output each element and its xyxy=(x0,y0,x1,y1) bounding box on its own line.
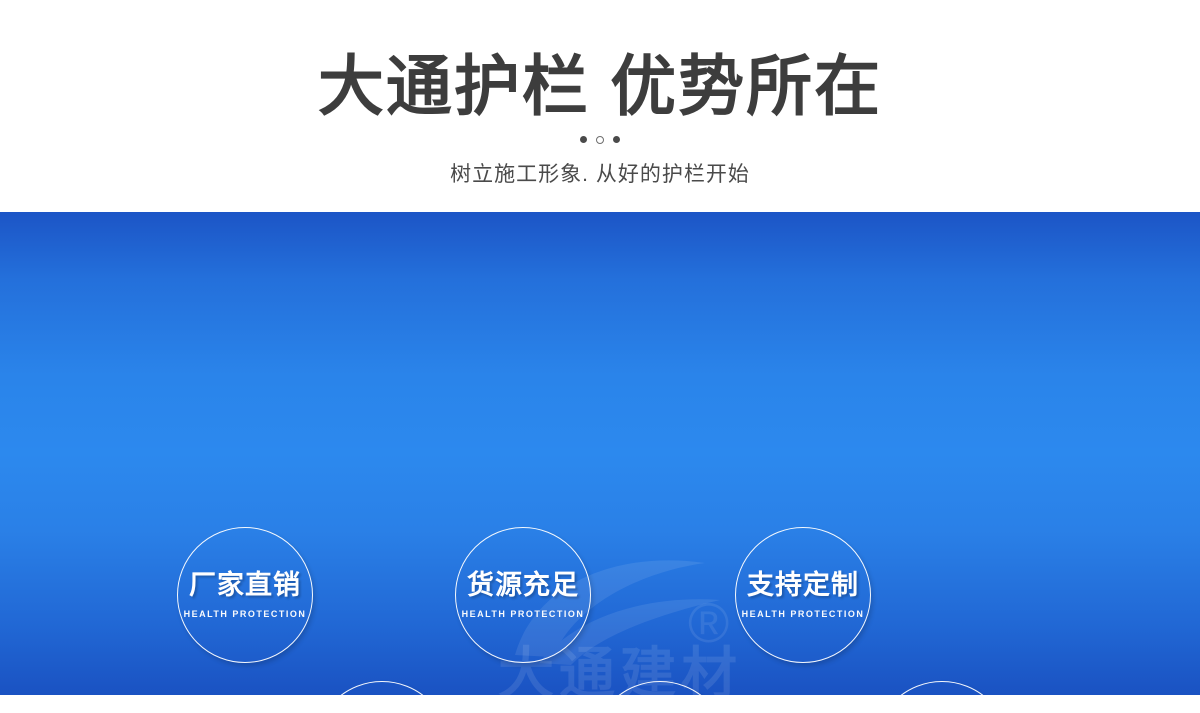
brand-watermark: ® 大通建材 DA TONG CONSTRUCTION MATERIAL xyxy=(0,212,1200,695)
advantage-badge-2-subtitle: HEALTH PROTECTION xyxy=(462,609,585,619)
dot-filled-right xyxy=(613,136,620,143)
advantage-badge-3[interactable]: 支持定制 HEALTH PROTECTION xyxy=(735,527,871,663)
page-title: 大通护栏 优势所在 xyxy=(318,52,882,121)
dot-hollow-center xyxy=(596,136,604,144)
page-subtitle: 树立施工形象. 从好的护栏开始 xyxy=(450,158,750,188)
dot-filled-left xyxy=(580,136,587,143)
footer-spacer xyxy=(0,695,1200,713)
advantages-panel: ® 大通建材 DA TONG CONSTRUCTION MATERIAL 厂家直… xyxy=(0,212,1200,695)
advantage-badge-3-title: 支持定制 xyxy=(747,572,859,599)
advantage-badge-2-title: 货源充足 xyxy=(467,572,579,599)
advantage-badge-1[interactable]: 厂家直销 HEALTH PROTECTION xyxy=(177,527,313,663)
header-section: 大通护栏 优势所在 树立施工形象. 从好的护栏开始 xyxy=(0,0,1200,212)
advantage-badge-6[interactable]: 烤漆工艺 HEALTH PROTECTION xyxy=(874,681,1010,695)
advantage-badge-1-title: 厂家直销 xyxy=(189,572,301,599)
advantage-badge-2[interactable]: 货源充足 HEALTH PROTECTION xyxy=(455,527,591,663)
advantage-badge-5[interactable]: 款式多样 HEALTH PROTECTION xyxy=(592,681,728,695)
separator-dots xyxy=(580,135,620,144)
advantage-badge-1-subtitle: HEALTH PROTECTION xyxy=(184,609,307,619)
advantage-badge-4[interactable]: 品质保障 HEALTH PROTECTION xyxy=(314,681,450,695)
advantage-badge-3-subtitle: HEALTH PROTECTION xyxy=(742,609,865,619)
registered-mark: ® xyxy=(688,595,729,651)
